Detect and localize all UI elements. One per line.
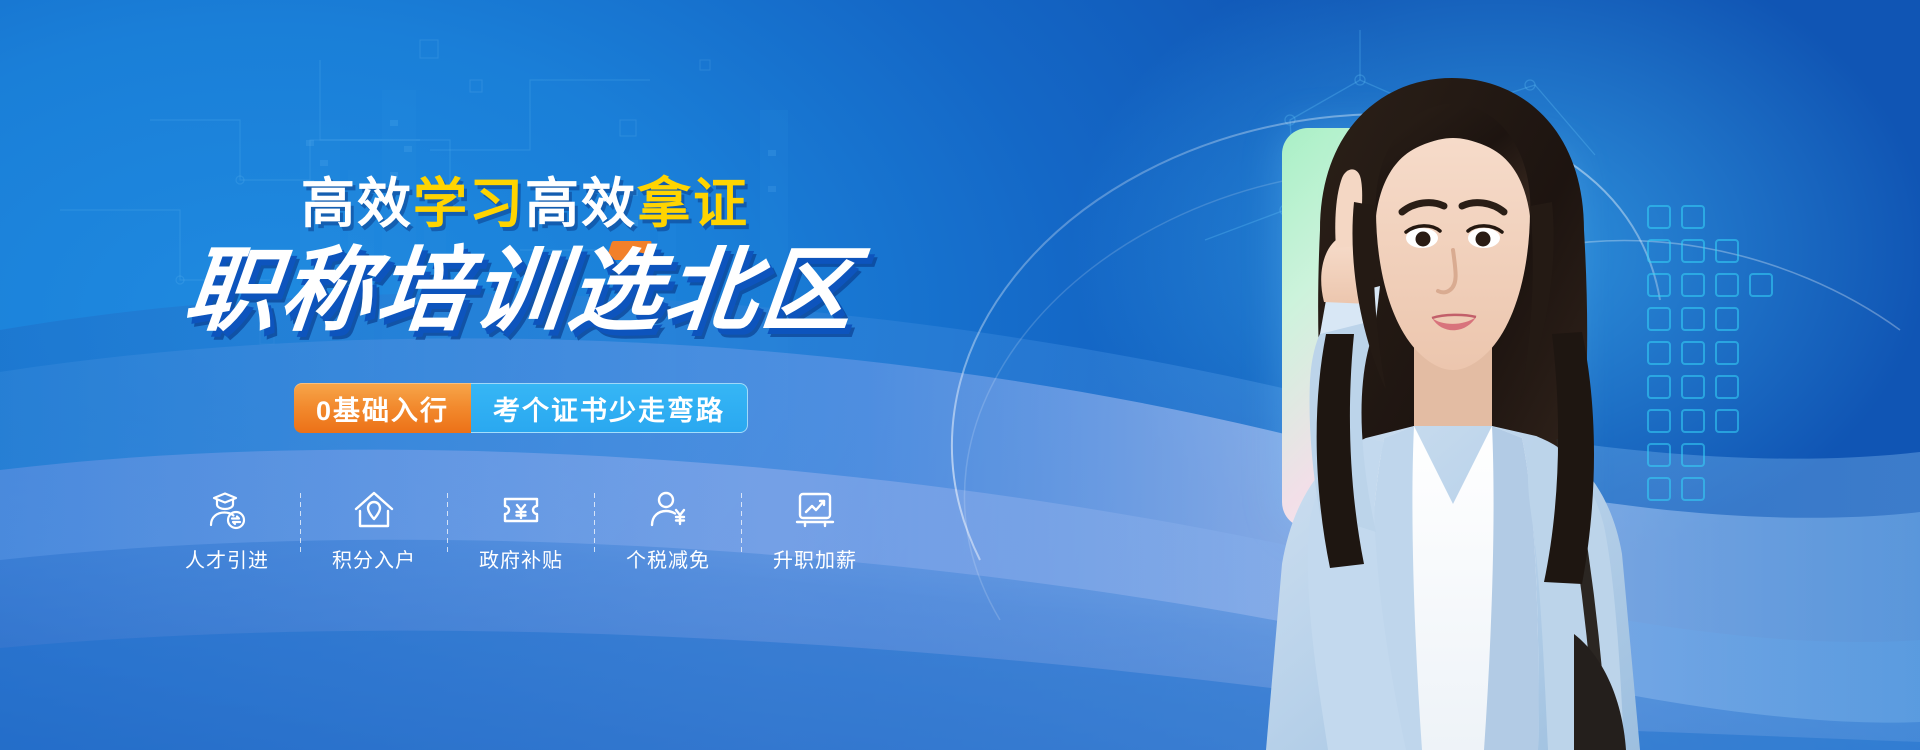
badge-secondary[interactable]: 考个证书少走弯路 xyxy=(471,383,748,433)
hero-photo-zone xyxy=(1020,0,1920,750)
headline-part-1: 高效 xyxy=(301,174,413,234)
graduate-person-icon xyxy=(205,487,249,533)
chart-board-icon xyxy=(793,487,837,533)
feature-label: 政府补贴 xyxy=(479,544,563,573)
feature-divider xyxy=(447,493,448,553)
promo-banner: 高效学习高效拿证 职称培训选北区 0基础入行 考个证书少走弯路 xyxy=(0,0,1920,750)
feature-divider xyxy=(300,493,301,553)
banner-content: 高效学习高效拿证 职称培训选北区 0基础入行 考个证书少走弯路 xyxy=(0,0,1030,750)
feature-item-residency[interactable]: 积分入户 xyxy=(318,487,430,573)
feature-list: 人才引进 积分入户 xyxy=(171,487,871,573)
feature-item-subsidy[interactable]: 政府补贴 xyxy=(465,487,577,573)
tagline-badge: 0基础入行 考个证书少走弯路 xyxy=(294,383,748,433)
main-title: 职称培训选北区 xyxy=(180,245,862,337)
feature-item-promotion[interactable]: 升职加薪 xyxy=(759,487,871,573)
headline-part-2: 学习 xyxy=(413,174,525,234)
headline: 高效学习高效拿证 xyxy=(301,177,749,231)
feature-label: 积分入户 xyxy=(332,544,416,573)
headline-part-4: 拿证 xyxy=(637,174,749,234)
feature-item-talent[interactable]: 人才引进 xyxy=(171,487,283,573)
house-pin-icon xyxy=(352,487,396,533)
headline-part-3: 高效 xyxy=(525,174,637,234)
instructor-photo xyxy=(1170,34,1730,750)
badge-primary[interactable]: 0基础入行 xyxy=(294,383,471,433)
feature-item-taxcut[interactable]: 个税减免 xyxy=(612,487,724,573)
coupon-yen-icon xyxy=(499,487,543,533)
feature-divider xyxy=(594,493,595,553)
feature-label: 人才引进 xyxy=(185,544,269,573)
main-title-wrap: 职称培训选北区 xyxy=(185,245,857,337)
feature-label: 升职加薪 xyxy=(773,544,857,573)
feature-divider xyxy=(741,493,742,553)
feature-label: 个税减免 xyxy=(626,544,710,573)
person-yen-icon xyxy=(646,487,690,533)
